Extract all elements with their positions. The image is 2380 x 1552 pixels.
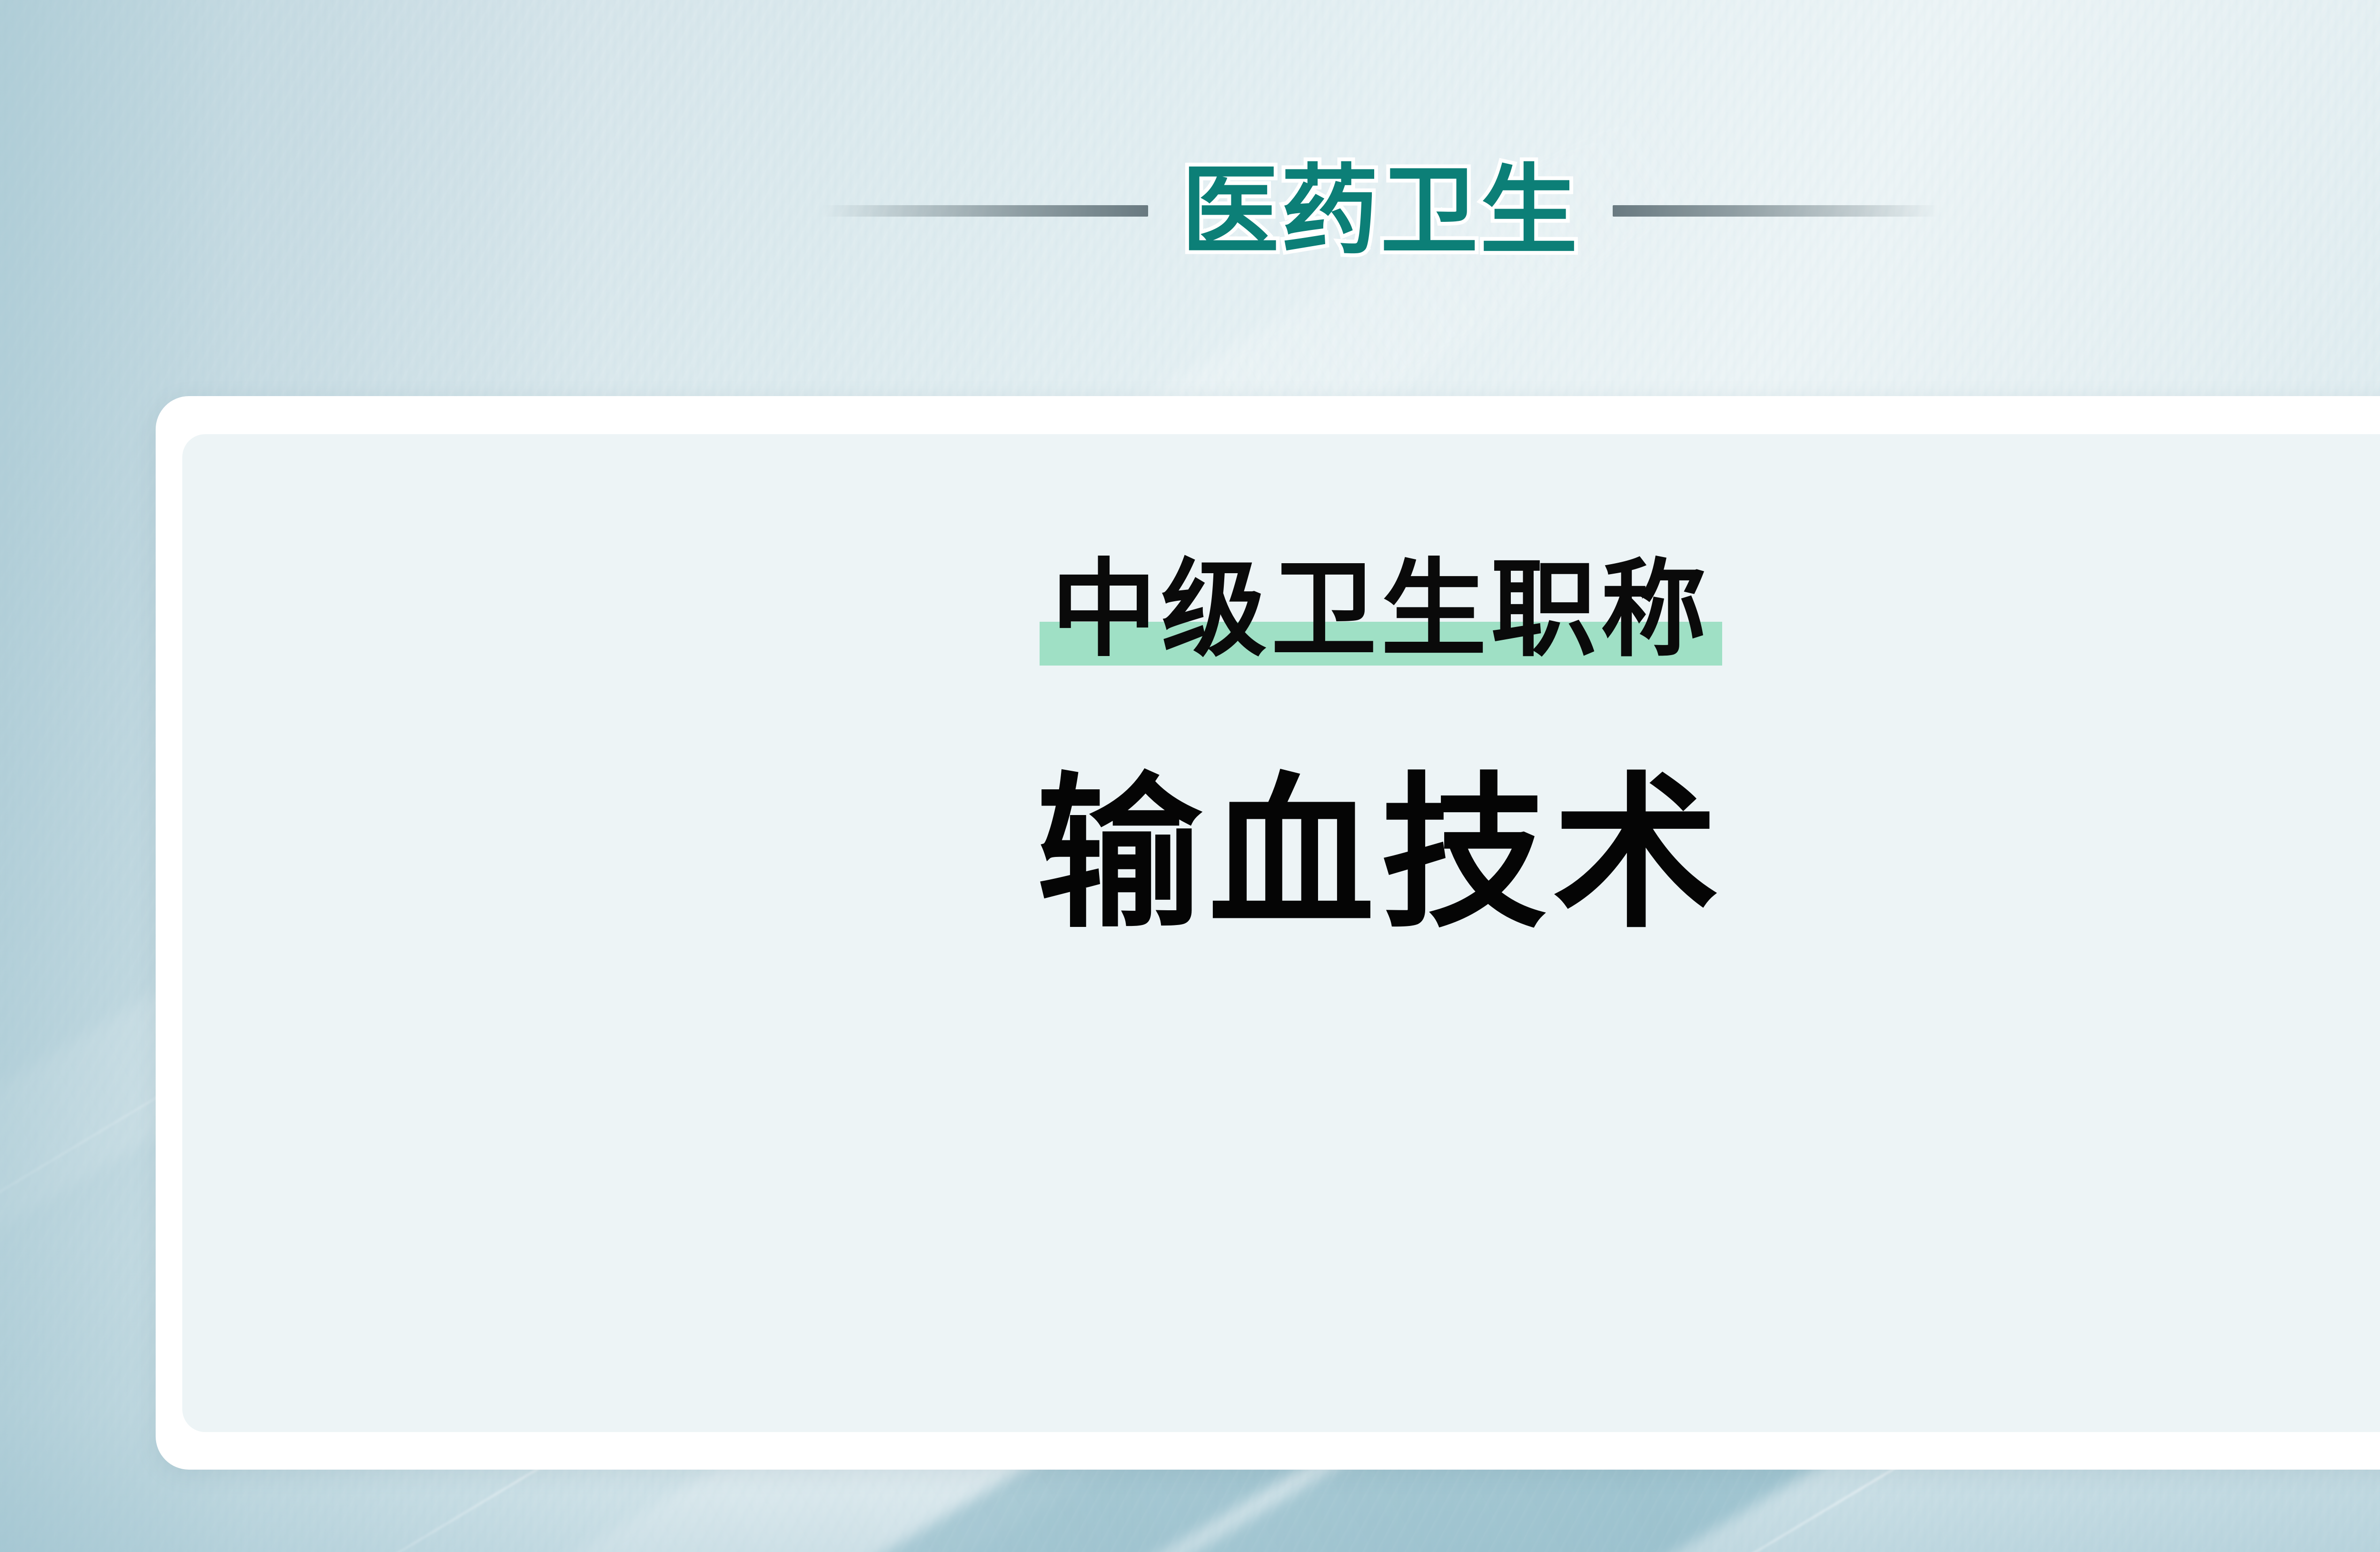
subtitle-text: 中级卫生职称 [1051, 557, 1710, 663]
header-title: 医药卫生 [1181, 162, 1579, 260]
subtitle-box: 中级卫生职称 [1051, 557, 1710, 663]
main-title-text: 输血技术 [182, 771, 2380, 937]
header-band: 医药卫生 [0, 151, 2380, 270]
content-card: 中级卫生职称 输血技术 [156, 396, 2380, 1470]
content-card-panel: 中级卫生职称 输血技术 [182, 434, 2380, 1432]
slide-root: 医药卫生 中级卫生职称 输血技术 [0, 0, 2380, 1552]
header-rule-left-icon [822, 205, 1148, 217]
subtitle-row: 中级卫生职称 [182, 557, 2380, 663]
header-rule-right-icon [1613, 205, 1939, 217]
